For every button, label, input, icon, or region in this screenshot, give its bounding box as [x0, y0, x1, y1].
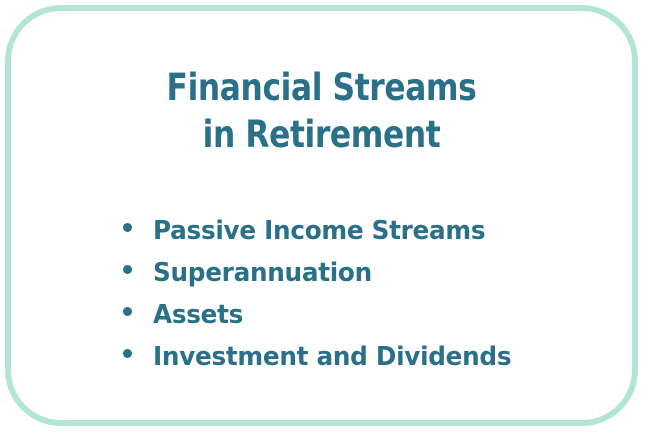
list-item: Passive Income Streams [123, 216, 530, 258]
list-item-label: Superannuation [153, 258, 372, 288]
slide-content: Financial Streams in Retirement Passive … [11, 11, 632, 420]
bullet-list: Passive Income Streams Superannuation As… [123, 216, 530, 384]
list-item-label: Investment and Dividends [153, 342, 511, 372]
bullet-dot-icon [123, 265, 132, 274]
page-title: Financial Streams in Retirement [30, 64, 614, 158]
slide-card: Financial Streams in Retirement Passive … [5, 5, 638, 426]
list-item-label: Assets [153, 300, 243, 330]
list-item: Superannuation [123, 258, 530, 300]
bullet-dot-icon [123, 223, 132, 232]
list-item: Investment and Dividends [123, 342, 530, 384]
list-item-label: Passive Income Streams [153, 216, 485, 246]
list-item: Assets [123, 300, 530, 342]
bullet-dot-icon [123, 307, 132, 316]
bullet-dot-icon [123, 349, 132, 358]
